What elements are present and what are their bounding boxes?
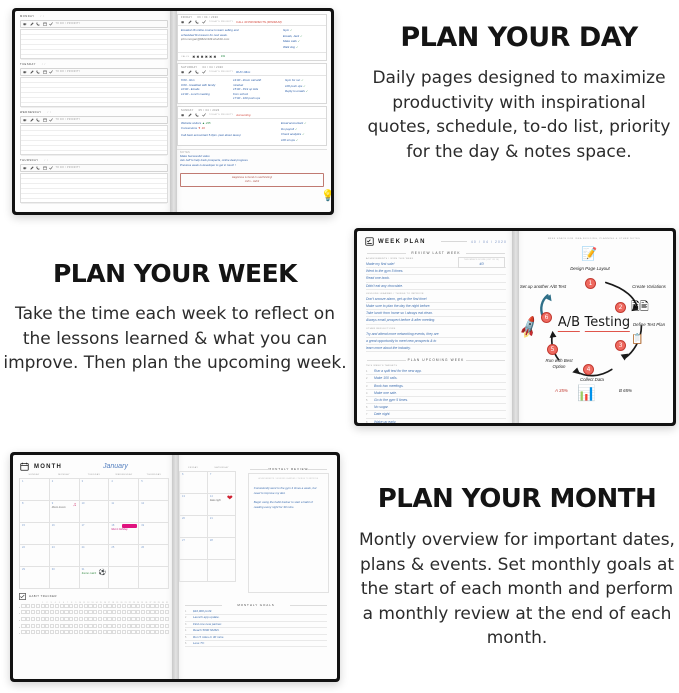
goal-number: 4 [185, 629, 190, 632]
date-number: 21 [210, 517, 233, 520]
group-line: Read one book. [366, 275, 506, 282]
habit-cells [21, 610, 169, 614]
habit-cell[interactable] [74, 624, 78, 628]
habit-cell[interactable] [103, 624, 107, 628]
calendar-icon [43, 166, 47, 170]
target-text: Date night. [374, 411, 506, 417]
habit-cell[interactable] [64, 610, 68, 614]
habit-cell[interactable] [127, 604, 131, 608]
habit-cell[interactable] [60, 604, 64, 608]
todo-item: 100 sit ups ✓ [281, 138, 323, 144]
priority-value: RUN 10km [236, 70, 250, 74]
habit-cell[interactable] [69, 630, 73, 634]
goal-number: 6 [185, 642, 190, 645]
calendar-cell[interactable]: 17 [80, 523, 110, 545]
habit-cell[interactable] [84, 624, 88, 628]
group-lines: Try and attend more networking events, t… [366, 331, 506, 353]
habit-cell[interactable] [55, 604, 59, 608]
habit-cell[interactable] [165, 604, 169, 608]
habit-cell[interactable] [64, 617, 68, 621]
habit-cell[interactable] [103, 610, 107, 614]
calendar-icon [20, 462, 29, 471]
habit-cell[interactable] [98, 624, 102, 628]
habit-cell[interactable] [122, 604, 126, 608]
habit-cell[interactable] [84, 610, 88, 614]
check-icon: ✓ [306, 90, 308, 93]
habit-cell[interactable] [136, 610, 140, 614]
week-header: WEEK PLAN 40 / 04 / 2020 [357, 231, 515, 248]
week-right-page: FREE SPACE FOR IDEA BUILDING, PLANNING &… [515, 231, 673, 423]
habit-cell[interactable] [79, 604, 83, 608]
habit-cell[interactable] [79, 624, 83, 628]
habit-cell[interactable] [93, 604, 97, 608]
habit-cell[interactable] [26, 604, 30, 608]
habit-cell[interactable] [160, 610, 164, 614]
habit-cell[interactable] [31, 610, 35, 614]
habit-cell[interactable] [155, 617, 159, 621]
habit-cell[interactable] [31, 630, 35, 634]
habit-cell[interactable] [45, 604, 49, 608]
calendar-cell[interactable] [109, 567, 139, 589]
habit-cell[interactable] [69, 617, 73, 621]
goal-text: Launch app update. [193, 615, 220, 620]
date-number: 4 [111, 480, 136, 483]
habit-cell[interactable] [136, 617, 140, 621]
habit-cell[interactable] [107, 630, 111, 634]
habit-cell[interactable] [131, 617, 135, 621]
day-block: THURSDAY / / TO DO / PRIORITY [15, 155, 173, 203]
habit-cell[interactable] [150, 610, 154, 614]
day-header: THURSDAY / / [20, 159, 168, 162]
calendar-cell[interactable]: 24 [80, 545, 110, 567]
calendar-cell[interactable]: 23 [50, 545, 80, 567]
calendar-cell[interactable]: 12 [139, 501, 169, 523]
calendar-cell[interactable]: 3 [80, 479, 110, 501]
day-name: TUESDAY [20, 63, 36, 66]
habit-cell[interactable] [122, 630, 126, 634]
calendar-cell[interactable]: 18 Mom's birthday [109, 523, 139, 545]
habit-cell[interactable] [93, 624, 97, 628]
habit-cell[interactable] [74, 610, 78, 614]
habit-cell[interactable] [64, 630, 68, 634]
habit-cell[interactable] [74, 630, 78, 634]
promo-title: PLAN YOUR WEEK [2, 258, 348, 289]
habit-cell[interactable] [41, 630, 45, 634]
calendar-cell[interactable] [208, 560, 236, 582]
habit-cell[interactable] [165, 630, 169, 634]
calendar-cell[interactable]: 14 ❤ Date night [208, 494, 236, 516]
document-pencil-icon: 📝 [581, 246, 597, 262]
habit-cell[interactable] [93, 617, 97, 621]
habit-cell[interactable] [107, 617, 111, 621]
priority-value: CALL 30 PROSPECTS (MINIMUM) [236, 20, 282, 24]
habit-cell[interactable] [112, 604, 116, 608]
calendar-cell[interactable]: 30 [50, 567, 80, 589]
habit-cell[interactable] [165, 617, 169, 621]
habit-cell[interactable] [141, 617, 145, 621]
calendar-cell[interactable]: 22 [20, 545, 50, 567]
habit-cell[interactable] [60, 610, 64, 614]
calendar-cell[interactable]: 20 [180, 516, 208, 538]
habit-cell[interactable] [117, 617, 121, 621]
habit-cell[interactable] [146, 630, 150, 634]
promo-title: PLAN YOUR MONTH [356, 483, 678, 515]
calendar-cell[interactable]: 15 [20, 523, 50, 545]
coffee-icon [23, 118, 27, 122]
habit-cell[interactable] [127, 630, 131, 634]
habit-cell[interactable] [79, 617, 83, 621]
habit-cell[interactable] [155, 624, 159, 628]
check-icon [202, 70, 206, 74]
date-number: 12 [141, 502, 166, 505]
habit-cell[interactable] [41, 617, 45, 621]
habit-cell[interactable] [88, 604, 92, 608]
habit-cell[interactable] [93, 610, 97, 614]
group-heading: OTHER REFLECTIONS [366, 328, 506, 330]
day-writing-area [20, 77, 168, 107]
habit-cell[interactable] [45, 610, 49, 614]
ab-step-node-5: 5 [547, 344, 558, 355]
habit-cell[interactable] [21, 604, 25, 608]
habit-cell[interactable] [41, 624, 45, 628]
habit-cell[interactable] [131, 610, 135, 614]
habit-cell[interactable] [50, 604, 54, 608]
habit-cell[interactable] [160, 624, 164, 628]
date-number: 8 [22, 502, 47, 505]
habit-cell[interactable] [84, 630, 88, 634]
calendar-cell[interactable]: 10 [80, 501, 110, 523]
habit-tracker-header: HABIT TRACKER [19, 593, 169, 600]
day-name: THURSDAY [20, 159, 38, 162]
habit-cell[interactable] [165, 610, 169, 614]
habit-cell[interactable] [107, 610, 111, 614]
ab-step-label-6: Set up another A/B Test [519, 284, 567, 290]
habit-cell[interactable] [136, 604, 140, 608]
habit-cell[interactable] [60, 624, 64, 628]
habit-cell[interactable] [36, 617, 40, 621]
calendar-cell[interactable]: 5 [139, 479, 169, 501]
habit-cell[interactable] [45, 630, 49, 634]
habit-cell[interactable] [69, 610, 73, 614]
target-row: 4Make one sale. [366, 390, 506, 397]
calendar-cell[interactable]: 25 [109, 545, 139, 567]
habit-cell[interactable] [79, 630, 83, 634]
priority-label: TODAY'S PRIORITY [209, 21, 233, 23]
calendar-cell[interactable]: 31 ⚽ Soccer match [80, 567, 110, 589]
habit-cell[interactable] [84, 617, 88, 621]
promo-block-month: PLAN YOUR MONTH Montly overview for impo… [356, 483, 678, 651]
daily-left-page: MONDAY / / TO DO / PRIORITY [15, 11, 173, 212]
tally-marks: ✖✖✖✖✖✖ [192, 55, 217, 59]
habit-cell[interactable] [21, 630, 25, 634]
habit-cell[interactable] [36, 630, 40, 634]
habit-cell[interactable] [74, 604, 78, 608]
habit-cell[interactable] [50, 624, 54, 628]
habit-cell[interactable] [79, 610, 83, 614]
targets-list: 1Run a split test for the new app. 2Make… [366, 368, 506, 423]
habit-cell[interactable] [50, 630, 54, 634]
habit-cell[interactable] [150, 630, 154, 634]
phone-icon [195, 70, 199, 74]
ab-testing-sketch: A/B Testing 📝 Design Page Layout 1 Creat… [515, 240, 673, 410]
habit-cell[interactable] [45, 617, 49, 621]
group-line: learn more about the industry. [366, 345, 506, 352]
habit-cell[interactable] [136, 624, 140, 628]
day-icon-row: TO DO / PRIORITY [20, 164, 168, 172]
coffee-icon [181, 20, 185, 24]
calendar-icon [43, 22, 47, 26]
goal-text: Run 5 miles in 30 mins. [193, 635, 224, 640]
habit-cell[interactable] [50, 610, 54, 614]
monthly-review-paragraph: Consistently went to the gym 4 times a w… [254, 486, 323, 495]
habit-cell[interactable] [36, 624, 40, 628]
habit-cell[interactable] [112, 630, 116, 634]
todo-text: Make calls [283, 39, 297, 43]
date-number: 2 [52, 480, 77, 483]
habit-cell[interactable] [103, 617, 107, 621]
calls-value: 341 [221, 54, 226, 59]
habit-cell[interactable] [150, 604, 154, 608]
ab-step-label-2: Create Variations [625, 284, 673, 290]
habit-cell[interactable] [74, 617, 78, 621]
habit-cell[interactable] [117, 604, 121, 608]
target-number: 1 [366, 370, 371, 373]
habit-cell[interactable] [26, 610, 30, 614]
habit-cell[interactable] [127, 617, 131, 621]
habit-cell[interactable] [107, 624, 111, 628]
check-icon: ✓ [300, 35, 302, 38]
check-icon: ✓ [296, 139, 298, 142]
schedule-column-morning: 8:00 - Run 9:00 - breakfast with family … [181, 78, 229, 101]
date-number: 30 [52, 568, 77, 571]
goal-number: 2 [185, 616, 190, 619]
habit-cell[interactable] [131, 624, 135, 628]
entry-todo-column: Gym ✓ Emails, Jack ✓ Make calls ✓ Walk d… [283, 28, 323, 50]
habit-cell[interactable] [160, 604, 164, 608]
calendar-cell[interactable]: 13 [180, 494, 208, 516]
check-icon: ✓ [303, 85, 305, 88]
promo-body: Daily pages designed to maximize product… [358, 66, 679, 164]
calendar-cell[interactable]: 19 [139, 523, 169, 545]
habit-cell[interactable] [127, 624, 131, 628]
calendar-cell[interactable]: 26 [139, 545, 169, 567]
habit-cell[interactable] [55, 624, 59, 628]
habit-cell[interactable] [141, 604, 145, 608]
day-name: MONDAY [20, 15, 35, 18]
habit-cell[interactable] [155, 604, 159, 608]
habit-cell[interactable] [88, 624, 92, 628]
lightbulb-icon: 💡 [321, 189, 331, 202]
targets-heading: THIS WEEK'S TARGETS [366, 365, 506, 367]
habit-cell[interactable] [150, 617, 154, 621]
calendar-cell[interactable]: 29 [20, 567, 50, 589]
habit-cell[interactable] [64, 604, 68, 608]
habit-cell[interactable] [26, 624, 30, 628]
habit-cell[interactable] [21, 624, 25, 628]
month-plan-title: MONTH [34, 464, 62, 470]
habit-cell[interactable] [107, 604, 111, 608]
habit-cell[interactable] [60, 617, 64, 621]
habit-cell[interactable] [155, 630, 159, 634]
habit-cell[interactable] [55, 617, 59, 621]
calendar-cell[interactable]: 4 [109, 479, 139, 501]
habit-cell[interactable] [41, 604, 45, 608]
daily-entry-footer: CALLS ✖✖✖✖✖✖ 341 [178, 52, 326, 60]
habit-cell[interactable] [160, 617, 164, 621]
habit-cell[interactable] [112, 624, 116, 628]
habit-cell[interactable] [146, 604, 150, 608]
calendar-cell[interactable]: 7 [208, 472, 236, 494]
habit-cell[interactable] [60, 630, 64, 634]
habit-cell[interactable] [117, 610, 121, 614]
target-number: 5 [366, 399, 371, 402]
check-icon: ✓ [304, 122, 306, 125]
habit-cell[interactable] [141, 610, 145, 614]
pencil-icon [188, 20, 192, 24]
variation-cards-icon: 🖹🖹 [631, 298, 649, 317]
weekday-label: TUESDAY [79, 474, 109, 478]
habit-cell[interactable] [131, 630, 135, 634]
soccer-ball-icon: ⚽ [99, 569, 106, 576]
pencil-icon [188, 113, 192, 117]
entry-todo-column: Gym for run ✓ 100 push ups ✓ Reply to em… [285, 78, 323, 101]
calendar-cell[interactable] [139, 567, 169, 589]
music-note-icon: ♫ [73, 502, 77, 508]
habit-cell[interactable] [64, 624, 68, 628]
goal-number: 1 [185, 610, 190, 613]
calendar-cell[interactable]: 1 [20, 479, 50, 501]
habit-cell[interactable] [55, 630, 59, 634]
habit-cell[interactable] [117, 624, 121, 628]
habit-cell[interactable] [98, 604, 102, 608]
ab-step-label-4: Collect Data [563, 377, 621, 383]
coffee-icon [181, 113, 185, 117]
habit-cell[interactable] [127, 610, 131, 614]
calendar-cell[interactable]: 27 [180, 538, 208, 560]
habit-cell[interactable] [146, 610, 150, 614]
habit-cell[interactable] [131, 604, 135, 608]
ab-step-label-3: Define Test Plan [627, 322, 671, 328]
check-icon: ✓ [296, 46, 298, 49]
calendar-cell[interactable]: 8 [20, 501, 50, 523]
date-number: 13 [182, 495, 205, 498]
habit-cell[interactable] [98, 610, 102, 614]
monthly-review-box: ACHIEVEMENTS / LESSONS LEARNED / THINGS … [248, 473, 329, 593]
date-number: 5 [141, 480, 166, 483]
habit-cell[interactable] [69, 624, 73, 628]
habit-cell[interactable] [69, 604, 73, 608]
habit-cell[interactable] [103, 630, 107, 634]
calendar-cell[interactable]: 9 ♫ Music lesson [50, 501, 80, 523]
habit-cell[interactable] [150, 624, 154, 628]
habit-cell[interactable] [41, 610, 45, 614]
monthly-review-title: MONTHLY REVIEW [250, 467, 327, 471]
goal-text: Find one new partner. [193, 622, 222, 627]
habit-cell[interactable] [36, 610, 40, 614]
habit-cell[interactable] [21, 610, 25, 614]
day-icon-row: TO DO / PRIORITY [20, 68, 168, 76]
habit-cell[interactable] [98, 617, 102, 621]
habit-cell[interactable] [122, 617, 126, 621]
day-writing-area [20, 125, 168, 155]
habit-cell[interactable] [26, 617, 30, 621]
calendar-cell[interactable]: 2 [50, 479, 80, 501]
habit-cell[interactable] [21, 617, 25, 621]
habit-cell[interactable] [31, 604, 35, 608]
weekday-label: THURSDAY [139, 474, 169, 478]
habit-cell[interactable] [155, 610, 159, 614]
habit-cell[interactable] [93, 630, 97, 634]
group-lines: Don't snooze alarm, get up the first tim… [366, 296, 506, 325]
habit-cell[interactable] [112, 617, 116, 621]
habit-cell[interactable] [146, 617, 150, 621]
habit-cell[interactable] [112, 610, 116, 614]
habit-cell[interactable] [98, 630, 102, 634]
habit-cell[interactable] [117, 630, 121, 634]
ab-step-node-6: 6 [541, 312, 552, 323]
habit-cell[interactable] [36, 604, 40, 608]
habit-cell[interactable] [31, 624, 35, 628]
notes-line: Previous week is developer to get in tou… [180, 163, 324, 168]
calendar-cell[interactable]: 28 [208, 538, 236, 560]
target-number: 7 [366, 413, 371, 416]
habit-cell[interactable] [141, 624, 145, 628]
habit-cell[interactable] [141, 630, 145, 634]
day-icon-row: TO DO / PRIORITY [20, 116, 168, 124]
promo-block-day: PLAN YOUR DAY Daily pages designed to ma… [358, 22, 679, 164]
group-line: Always email prospect before & after mee… [366, 317, 506, 324]
habit-cell[interactable] [88, 630, 92, 634]
test-plan-list-icon: 📋 [631, 334, 643, 345]
habit-cell[interactable] [103, 604, 107, 608]
habit-cell[interactable] [88, 617, 92, 621]
calendar-cell[interactable] [180, 560, 208, 582]
habit-cell[interactable] [88, 610, 92, 614]
habit-cell[interactable] [84, 604, 88, 608]
entry-todo-column: Email accountant ✓ Do payroll ✓ Check an… [281, 121, 323, 143]
month-header: MONTH January [13, 455, 175, 474]
calendar-cell[interactable]: 21 [208, 516, 236, 538]
calendar-cell[interactable]: 11 [109, 501, 139, 523]
habit-row [19, 617, 169, 621]
target-number: 2 [366, 377, 371, 380]
target-text: Make one sale. [374, 390, 506, 396]
habit-cell[interactable] [122, 610, 126, 614]
habit-cell[interactable] [55, 610, 59, 614]
phone-icon [36, 22, 40, 26]
pencil-icon [30, 70, 34, 74]
calendar-cell[interactable]: 16 [50, 523, 80, 545]
habit-cell[interactable] [45, 624, 49, 628]
day-slot-label: TO DO / PRIORITY [56, 167, 81, 169]
habit-cell[interactable] [26, 630, 30, 634]
habit-tracker-grid: 1234567891011121314151617181920212223242… [19, 602, 169, 635]
review-section-title: REVIEW LAST WEEK [367, 251, 505, 255]
score-value: 40 [464, 261, 499, 266]
calendar-cell[interactable]: 6 [180, 472, 208, 494]
entry-notes-column: Emailed 16 online course to learn sellin… [181, 28, 279, 50]
habit-cell[interactable] [160, 630, 164, 634]
habit-cell[interactable] [165, 624, 169, 628]
date-number: 22 [22, 546, 47, 549]
goal-number: 5 [185, 636, 190, 639]
habit-cell[interactable] [31, 617, 35, 621]
habit-cell[interactable] [136, 630, 140, 634]
habit-cell[interactable] [50, 617, 54, 621]
habit-cell[interactable] [122, 624, 126, 628]
pie-b-value: 65% [623, 388, 632, 393]
habit-cell[interactable] [146, 624, 150, 628]
